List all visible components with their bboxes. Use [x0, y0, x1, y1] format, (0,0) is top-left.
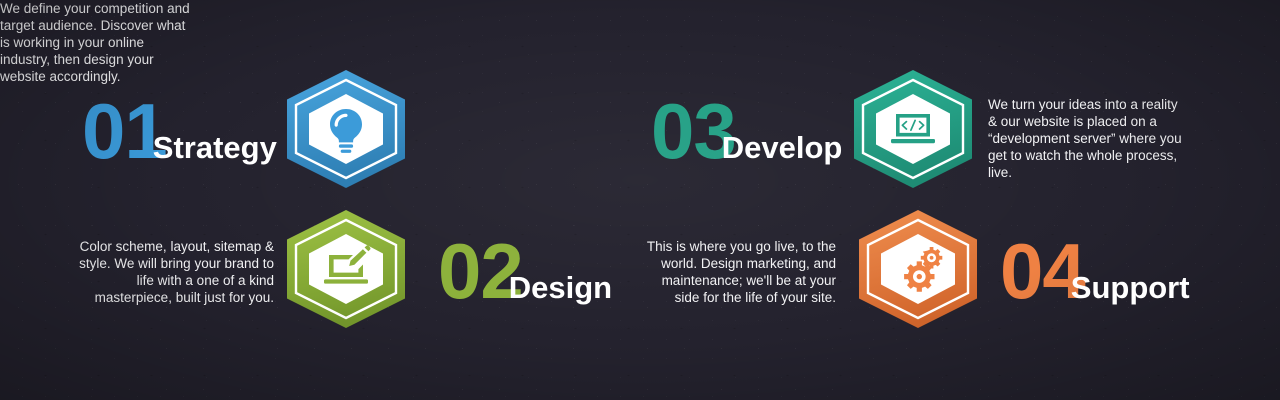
step-03-label: Develop — [722, 132, 843, 163]
step-03-number-label-group: 03 Develop — [651, 92, 842, 170]
process-steps-infographic: 01 Strategy We define your competition a… — [0, 0, 1280, 400]
step-02-hexagon-badge[interactable] — [283, 208, 409, 330]
step-04-hexagon-badge[interactable] — [855, 208, 981, 330]
step-02-description: Color scheme, layout, sitemap & style. W… — [78, 238, 274, 306]
step-04-label: Support — [1071, 272, 1190, 303]
step-03-description: We turn your ideas into a reality & our … — [988, 96, 1184, 181]
step-01-number-label-group: 01 Strategy — [82, 92, 277, 170]
step-03-hexagon-badge[interactable] — [850, 68, 976, 190]
step-01-label: Strategy — [153, 132, 277, 163]
step-02-label: Design — [509, 272, 612, 303]
step-01-description: We define your competition and target au… — [0, 0, 196, 85]
step-02-number-label-group: 02 Design — [438, 232, 612, 310]
step-04-description: This is where you go live, to the world.… — [640, 238, 836, 306]
step-04-number-label-group: 04 Support — [1000, 232, 1190, 310]
step-01-hexagon-badge[interactable] — [283, 68, 409, 190]
